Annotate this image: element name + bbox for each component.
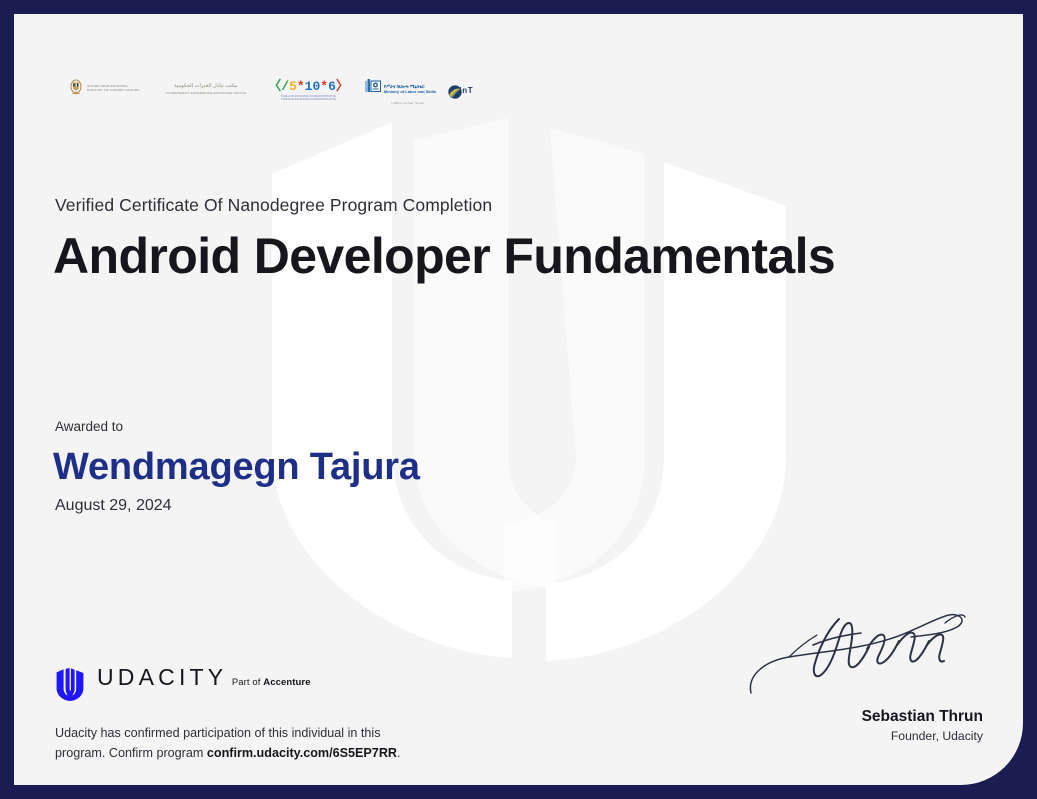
coders-code-star1: * — [297, 79, 305, 94]
geo-logo-arabic: مكتب تبادل الخبرات الحكومية — [165, 83, 246, 90]
verification-text: Udacity has confirmed participation of t… — [55, 723, 401, 764]
recipient-name: Wendmagegn Tajura — [53, 445, 420, 491]
verification-line2-suffix: . — [397, 746, 401, 760]
issue-date: August 29, 2024 — [55, 497, 172, 515]
signer-name: Sebastian Thrun — [728, 707, 983, 726]
certificate-page: UNITED ARAB EMIRATES MINISTRY OF CABINET… — [14, 14, 1023, 785]
signer-role: Founder, Udacity — [728, 729, 983, 743]
coders-sub-text: 5 MILLION ETHIOPIAN CODERS INITIATIVE 5 … — [268, 95, 349, 102]
coders-code-5: 5 — [289, 79, 297, 94]
partner-logo-ministry-of-labor-and-skills: የሥራና ክህሎት ሚኒስቴር Ministry of Labor and Sk… — [365, 62, 436, 116]
geo-logo-line1: GOVERNMENT EXPERIENCE EXCHANGE OFFICE — [165, 91, 246, 95]
udacity-brand-block: UDACITY Part of Accenture — [55, 666, 311, 707]
partner-logo-government-experience-exchange-office: مكتب تبادل الخبرات الحكومية GOVERNMENT E… — [165, 62, 246, 116]
coders-code-close: 〉 — [336, 79, 349, 94]
partner-logo-five-million-ethiopian-coders: 〈/5*10*6〉 5 MILLION ETHIOPIAN CODERS INI… — [268, 62, 349, 116]
udacity-wordmark: UDACITY — [97, 664, 227, 690]
mint-sub-line1: ኢኖቬሽንና ቴክኖሎጂ ሚኒስቴር — [391, 102, 424, 105]
certificate-frame: UNITED ARAB EMIRATES MINISTRY OF CABINET… — [0, 0, 1037, 799]
verification-line2-prefix: program. Confirm program — [55, 746, 207, 760]
verification-confirm-url[interactable]: confirm.udacity.com/6S5EP7RR — [207, 746, 397, 760]
awarded-to-label: Awarded to — [55, 419, 123, 434]
coders-code-10: 10 — [305, 79, 321, 94]
coders-code-6: 6 — [328, 79, 336, 94]
signature-block: Sebastian Thrun Founder, Udacity — [728, 601, 983, 743]
uae-logo-text: UNITED ARAB EMIRATES MINISTRY OF CABINET… — [87, 85, 139, 92]
udacity-tagline-company: Accenture — [263, 677, 310, 688]
building-pillars-icon — [365, 78, 381, 100]
coders-code-star2: * — [320, 79, 328, 94]
program-title: Android Developer Fundamentals — [53, 229, 835, 284]
handwritten-signature-icon — [743, 601, 983, 711]
certificate-kicker: Verified Certificate Of Nanodegree Progr… — [55, 195, 492, 216]
geo-wordmark-icon: مكتب تبادل الخبرات الحكومية GOVERNMENT E… — [165, 83, 246, 95]
udacity-u-icon — [55, 668, 85, 707]
coders-code-wordmark: 〈/5*10*6〉 — [268, 79, 349, 94]
molas-logo-text: የሥራና ክህሎት ሚኒስቴር Ministry of Labor and Sk… — [384, 84, 436, 95]
uae-logo-line2: MINISTRY OF CABINET AFFAIRS — [87, 89, 139, 93]
partner-logo-strip: UNITED ARAB EMIRATES MINISTRY OF CABINET… — [55, 62, 475, 116]
coders-code-open: 〈/ — [268, 79, 289, 94]
molas-logo-line1: Ministry of Labor and Skills — [384, 89, 436, 94]
coders-sub-line2: 5 MILLION ETHIOPIAN CODERS INITIATIVE — [268, 98, 349, 102]
globe-swoosh-icon — [447, 84, 463, 105]
partner-logo-ministry-of-innovation-and-technology: MInT ኢኖቬሽንና ቴክኖሎጂ ሚኒስቴር — [452, 62, 463, 116]
verification-line1: Udacity has confirmed participation of t… — [55, 726, 381, 740]
partner-logo-uae-ministry-of-cabinet-affairs: UNITED ARAB EMIRATES MINISTRY OF CABINET… — [69, 62, 139, 116]
code-bracket-icon: 〈/5*10*6〉 5 MILLION ETHIOPIAN CODERS INI… — [268, 77, 349, 102]
udacity-wordmark-block: UDACITY Part of Accenture — [97, 666, 311, 690]
uae-emblem-icon — [69, 78, 83, 101]
udacity-tagline: Part of Accenture — [232, 677, 311, 688]
udacity-tagline-prefix: Part of — [232, 677, 263, 688]
